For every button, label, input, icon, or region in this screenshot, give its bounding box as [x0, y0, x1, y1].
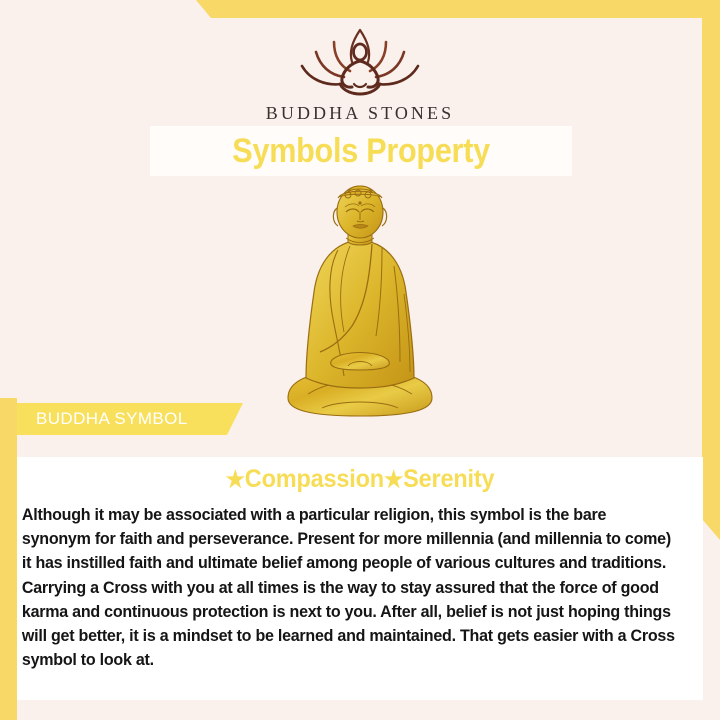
page-title-box: Symbols Property: [150, 126, 572, 176]
page-title: Symbols Property: [232, 132, 490, 171]
brand-header: BUDDHA STONES: [0, 22, 720, 124]
tagline: ★Compassion★Serenity: [38, 457, 683, 494]
star-icon-right: ★: [384, 466, 403, 492]
golden-buddha-icon: [262, 184, 458, 420]
ribbon-label: BUDDHA SYMBOL: [17, 409, 188, 429]
buddha-statue-image: [0, 182, 720, 420]
buddha-symbol-ribbon: BUDDHA SYMBOL: [17, 403, 243, 435]
tagline-word-serenity: Serenity: [403, 465, 494, 493]
content-panel: ★Compassion★Serenity Although it may be …: [17, 457, 703, 700]
brand-name: BUDDHA STONES: [0, 103, 720, 124]
tagline-word-compassion: Compassion: [245, 465, 384, 493]
star-icon-left: ★: [226, 466, 245, 492]
lotus-meditation-icon: [294, 22, 426, 96]
decorative-top-band: [0, 0, 720, 18]
body-paragraph: Although it may be associated with a par…: [17, 494, 693, 672]
decorative-left-strip: [0, 398, 17, 720]
infographic-card: BUDDHA STONES Symbols Property: [0, 0, 720, 720]
